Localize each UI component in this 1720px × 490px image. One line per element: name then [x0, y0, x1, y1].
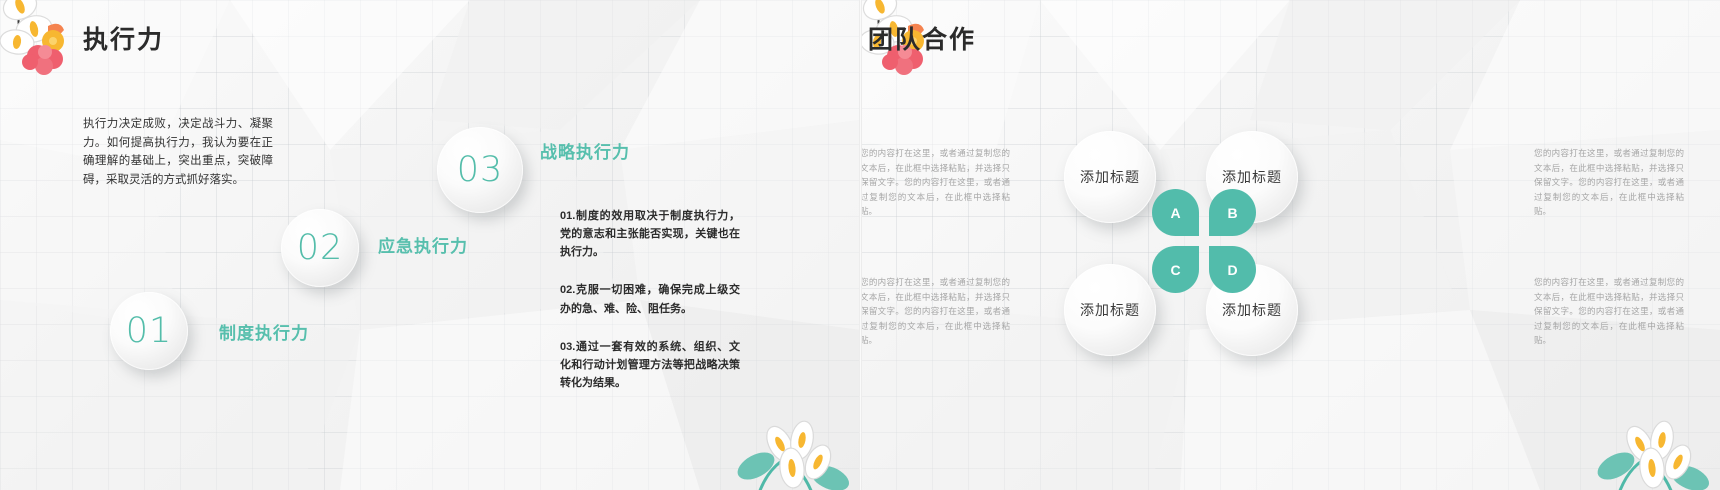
slide-deck: 执行力 执行力决定成败，决定战斗力、凝聚力。如何提高执行力，我认为要在正确理解的… [0, 0, 1720, 490]
petal-a[interactable]: A [1152, 189, 1199, 236]
petal-letter-b: B [1227, 205, 1237, 221]
page-title: 团队合作 [868, 20, 976, 56]
bullet-item: 03.通过一套有效的系统、组织、文化和行动计划管理方法等把战略决策转化为结果。 [560, 338, 740, 392]
step-circle-03[interactable]: 03 [437, 127, 523, 213]
flower-decoration-icon [718, 392, 860, 490]
node-label: 添加标题 [1080, 300, 1140, 320]
placeholder-text-bottom-left: 您的内容打在这里，或者通过复制您的文本后，在此框中选择粘贴，并选择只保留文字。您… [860, 275, 1010, 348]
node-button-bottom-left[interactable]: 添加标题 [1064, 264, 1156, 356]
step-number-03: 03 [457, 150, 504, 190]
petal-letter-a: A [1170, 205, 1180, 221]
intro-paragraph: 执行力决定成败，决定战斗力、凝聚力。如何提高执行力，我认为要在正确理解的基础上，… [83, 115, 273, 190]
petal-b[interactable]: B [1209, 189, 1256, 236]
slide-executive-power: 执行力 执行力决定成败，决定战斗力、凝聚力。如何提高执行力，我认为要在正确理解的… [0, 0, 860, 490]
polygon-facets-decoration [860, 0, 1720, 490]
step-circle-02[interactable]: 02 [281, 209, 359, 287]
page-title: 执行力 [83, 20, 164, 56]
petal-c[interactable]: C [1152, 246, 1199, 293]
petal-letter-d: D [1227, 262, 1237, 278]
node-label: 添加标题 [1222, 167, 1282, 187]
slide-divider [859, 0, 862, 490]
bullet-item: 02.克服一切困难，确保完成上级交办的急、难、险、阻任务。 [560, 281, 740, 317]
petal-d[interactable]: D [1209, 246, 1256, 293]
step-label-02: 应急执行力 [378, 232, 468, 257]
bullet-item: 01.制度的效用取决于制度执行力，党的意志和主张能否实现，关键也在执行力。 [560, 207, 740, 261]
node-label: 添加标题 [1222, 300, 1282, 320]
step-number-01: 01 [126, 311, 173, 351]
step-circle-01[interactable]: 01 [110, 292, 188, 370]
grid-background [860, 0, 1720, 490]
placeholder-text-bottom-right: 您的内容打在这里，或者通过复制您的文本后，在此框中选择粘贴，并选择只保留文字。您… [1534, 275, 1684, 348]
step-label-01: 制度执行力 [219, 319, 309, 344]
step-label-03: 战略执行力 [540, 138, 630, 163]
petal-letter-c: C [1170, 262, 1180, 278]
node-button-top-left[interactable]: 添加标题 [1064, 131, 1156, 223]
placeholder-text-top-left: 您的内容打在这里，或者通过复制您的文本后，在此框中选择粘贴，并选择只保留文字。您… [860, 146, 1010, 219]
placeholder-text-top-right: 您的内容打在这里，或者通过复制您的文本后，在此框中选择粘贴，并选择只保留文字。您… [1534, 146, 1684, 219]
slide-team-collaboration: 团队合作 您的内容打在这里，或者通过复制您的文本后，在此框中选择粘贴，并选择只保… [860, 0, 1720, 490]
petal-diagram: A B C D [1152, 189, 1256, 293]
flower-decoration-icon [1578, 392, 1720, 490]
bullet-list: 01.制度的效用取决于制度执行力，党的意志和主张能否实现，关键也在执行力。 02… [560, 207, 740, 392]
step-number-02: 02 [297, 228, 344, 268]
node-label: 添加标题 [1080, 167, 1140, 187]
